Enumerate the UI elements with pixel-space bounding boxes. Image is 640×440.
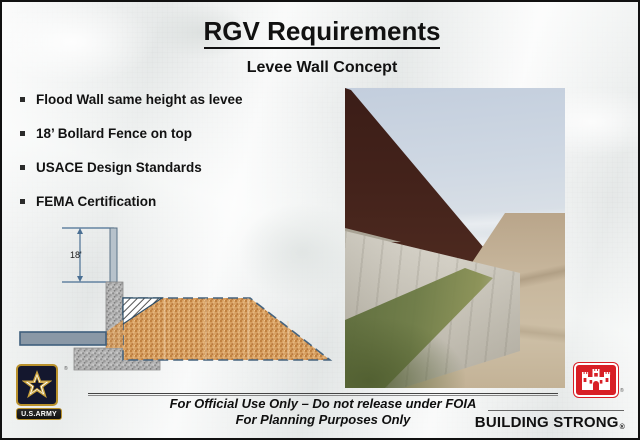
list-item: USACE Design Standards <box>16 158 336 178</box>
footer-divider <box>88 393 558 394</box>
page-title-text: RGV Requirements <box>204 16 441 49</box>
levee-wall-cross-section-diagram: 18' <box>10 220 340 385</box>
levee-earth-fill <box>123 298 330 360</box>
building-strong-tagline: BUILDING STRONG® <box>475 414 624 431</box>
dimension-label: 18' <box>70 250 82 260</box>
usace-castle-logo <box>574 363 618 397</box>
building-strong-divider <box>488 410 624 411</box>
photo-grass-foreground <box>345 318 465 388</box>
list-item: FEMA Certification <box>16 192 336 212</box>
star-icon <box>22 370 52 400</box>
levee-wall-photo <box>345 88 565 388</box>
castle-icon <box>581 369 611 391</box>
registered-mark: ® <box>620 424 625 431</box>
list-item: Flood Wall same height as levee <box>16 90 336 110</box>
square-bullet-icon <box>16 90 36 110</box>
list-item-label: 18’ Bollard Fence on top <box>36 124 192 144</box>
approach-slab <box>20 332 106 345</box>
army-registered-mark: ® <box>64 366 68 372</box>
list-item-label: USACE Design Standards <box>36 158 202 178</box>
list-item-label: FEMA Certification <box>36 192 156 212</box>
army-wordmark: U.S.ARMY <box>16 408 62 420</box>
square-bullet-icon <box>16 192 36 212</box>
square-bullet-icon <box>16 158 36 178</box>
square-bullet-icon <box>16 124 36 144</box>
bollard-fence-post <box>110 228 117 282</box>
list-item-label: Flood Wall same height as levee <box>36 90 243 110</box>
list-item: 18’ Bollard Fence on top <box>16 124 336 144</box>
page-title: RGV Requirements <box>2 16 640 47</box>
presentation-slide: RGV Requirements Levee Wall Concept Floo… <box>0 0 640 440</box>
usace-registered-mark: ® <box>620 388 624 394</box>
bullet-list: Flood Wall same height as levee 18’ Boll… <box>16 90 336 226</box>
us-army-logo: U.S.ARMY <box>16 364 62 420</box>
army-star-badge <box>16 364 58 406</box>
slide-subtitle: Levee Wall Concept <box>2 59 640 77</box>
cross-section-svg: 18' <box>10 220 340 385</box>
building-strong-text: BUILDING STRONG <box>475 414 619 431</box>
